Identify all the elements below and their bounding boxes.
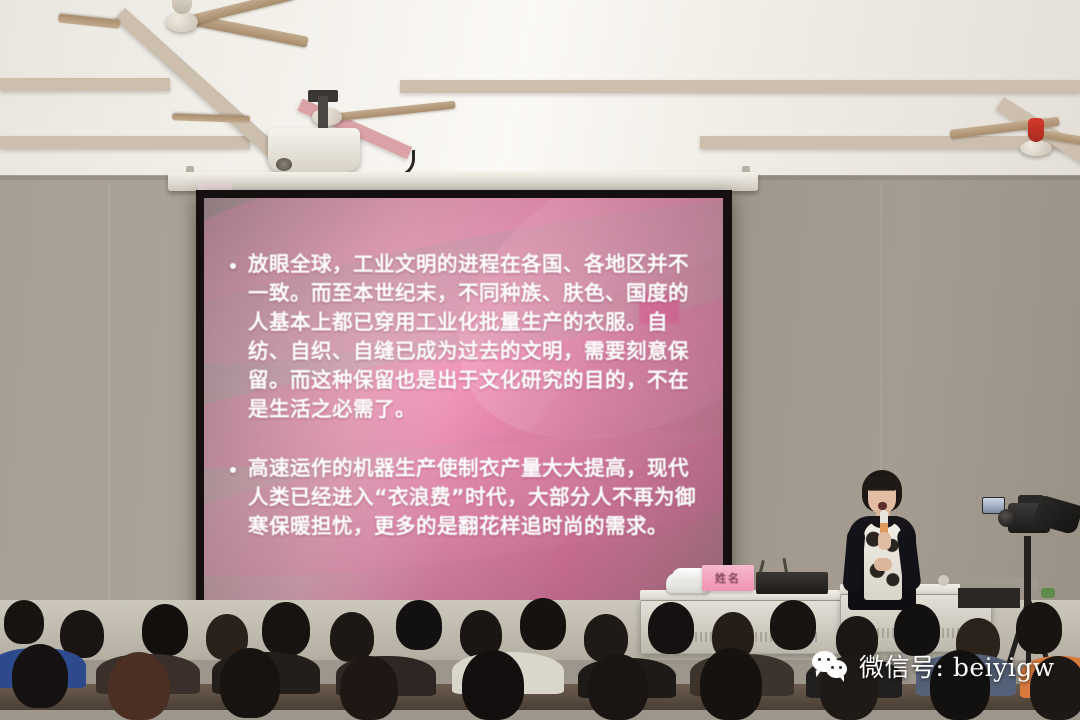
projection-screen: 放眼全球，工业文明的进程在各国、各地区并不一致。而至本世纪末，不同种族、肤色、国… (196, 190, 732, 612)
audience-head (588, 654, 648, 720)
bullet-point-icon (230, 467, 236, 473)
audience-head (1016, 602, 1062, 654)
slide-bullet-item: 高速运作的机器生产使制衣产量大大提高，现代人类已经进入“衣浪费”时代，大部分人不… (226, 454, 697, 541)
presenter-hand (874, 558, 892, 571)
camera-lens-icon (998, 509, 1016, 527)
ceiling-fan (120, 0, 320, 56)
lecture-hall-photo: 放眼全球，工业文明的进程在各国、各地区并不一致。而至本世纪末，不同种族、肤色、国… (0, 0, 1080, 720)
projection-screen-housing (168, 172, 758, 191)
wechat-logo-icon (812, 651, 850, 681)
projector-lens-icon (276, 158, 292, 171)
desk-object (938, 575, 949, 586)
audience-head (142, 604, 188, 656)
ceiling-beam (0, 136, 250, 149)
fan-motor (1028, 118, 1044, 142)
av-equipment-box (756, 572, 828, 594)
slide-bullet-text: 高速运作的机器生产使制衣产量大大提高，现代人类已经进入“衣浪费”时代，大部分人不… (248, 454, 697, 541)
fan-blade (328, 101, 456, 122)
audience-head (462, 650, 524, 720)
wall-seam-vertical (108, 182, 110, 602)
presentation-slide: 放眼全球，工业文明的进程在各国、各地区并不一致。而至本世纪末，不同种族、肤色、国… (204, 198, 723, 603)
bullet-point-icon (230, 263, 236, 269)
ceiling-fan (980, 108, 1080, 168)
presenter-hand (878, 532, 891, 550)
audience-head (770, 600, 816, 650)
screen-pull-tab (198, 183, 232, 190)
slide-content: 放眼全球，工业文明的进程在各国、各地区并不一致。而至本世纪末，不同种族、肤色、国… (226, 250, 697, 571)
presenter (836, 470, 928, 610)
fan-motor (172, 0, 192, 14)
name-placard: 姓名 (702, 565, 754, 591)
audience-head (12, 644, 68, 708)
audience-head (396, 600, 442, 650)
ceiling-beam (0, 78, 170, 91)
audience-head (262, 602, 310, 656)
name-placard-label: 姓名 (715, 570, 741, 586)
wechat-bubble-small (826, 660, 847, 678)
audience-head (4, 600, 44, 644)
glasses-icon (869, 490, 895, 498)
audience-head (108, 652, 170, 720)
audience-head (700, 648, 762, 720)
wechat-watermark: 微信号: beiyigw (812, 648, 1055, 684)
audience-head (330, 612, 374, 662)
fan-hub (1020, 140, 1052, 156)
audience-head (220, 648, 280, 718)
ceiling-beam (400, 80, 1080, 93)
presenter-mouth (878, 502, 887, 510)
wechat-id-text: 微信号: beiyigw (859, 648, 1055, 684)
presenter-hair-fringe (863, 476, 901, 490)
slide-bullet-item: 放眼全球，工业文明的进程在各国、各地区并不一致。而至本世纪末，不同种族、肤色、国… (226, 250, 697, 424)
audience-head (340, 656, 398, 720)
fan-hub (166, 12, 198, 32)
slide-bullet-text: 放眼全球，工业文明的进程在各国、各地区并不一致。而至本世纪末，不同种族、肤色、国… (248, 250, 697, 424)
audience-head (648, 602, 694, 654)
audience-head (520, 598, 566, 650)
projector-mount (318, 96, 328, 132)
